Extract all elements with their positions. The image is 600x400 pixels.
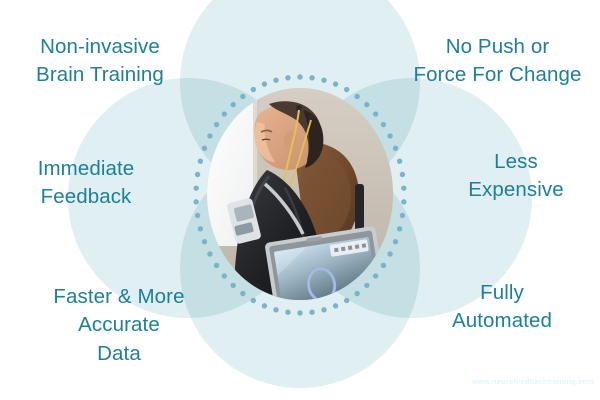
infographic-canvas: Non-invasive Brain Training No Push or F…: [0, 0, 600, 400]
photo-illustration: [207, 88, 393, 300]
label-immediate-feedback: Immediate Feedback: [0, 155, 172, 212]
label-less-expensive: Less Expensive: [432, 148, 600, 205]
watermark-url: www.neurofeedbacktraining.com: [472, 377, 594, 386]
label-non-invasive-brain-training: Non-invasive Brain Training: [0, 33, 200, 90]
label-faster-more-accurate-data: Faster & More Accurate Data: [10, 283, 228, 368]
label-no-push-or-force-for-change: No Push or Force For Change: [395, 33, 600, 90]
center-photo: [207, 88, 393, 300]
label-fully-automated: Fully Automated: [404, 279, 600, 336]
